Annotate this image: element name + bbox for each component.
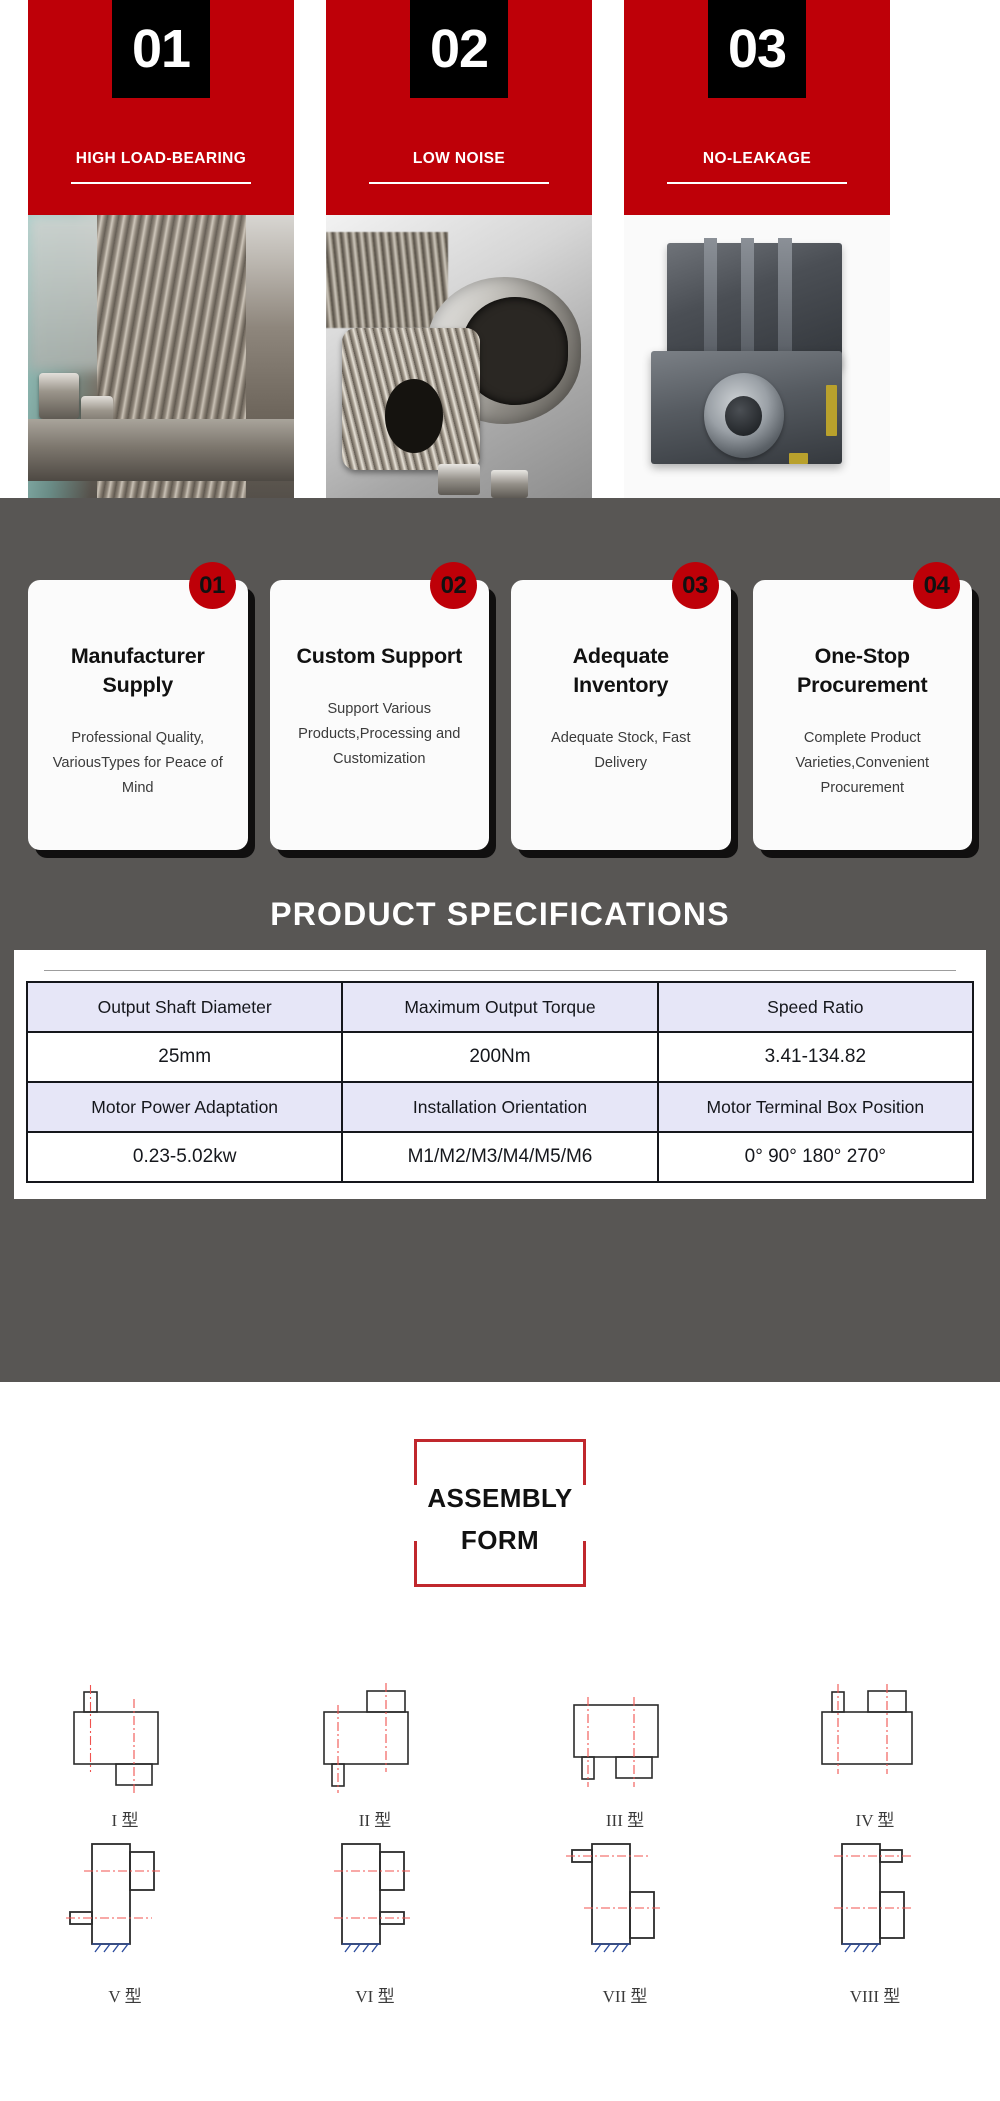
assembly-form-title-line1: ASSEMBLY (414, 1477, 586, 1519)
assembly-form-title-line2: FORM (414, 1519, 586, 1561)
diagram-label: I 型 (0, 1806, 250, 1831)
table-row: Motor Power Adaptation Installation Orie… (27, 1082, 973, 1132)
hero-divider (71, 182, 251, 184)
assembly-type-iv-icon (810, 1675, 940, 1795)
assembly-diagram-8: VIII 型 (750, 1831, 1000, 2007)
assembly-diagram-3: III 型 (500, 1670, 750, 1831)
advantage-card-1[interactable]: 01 Manufacturer Supply Professional Qual… (28, 580, 248, 850)
assembly-type-vii-icon (560, 1836, 690, 1971)
card-description: Adequate Stock, Fast Delivery (527, 700, 715, 776)
table-row: Output Shaft Diameter Maximum Output Tor… (27, 982, 973, 1032)
hero-panel-3: 03 NO-LEAKAGE (624, 0, 890, 498)
table-value-cell: 200Nm (342, 1032, 657, 1082)
table-value-cell: 3.41-134.82 (658, 1032, 973, 1082)
diagram-label: V 型 (0, 1982, 250, 2007)
assembly-form-section: ASSEMBLY FORM (0, 1382, 1000, 2101)
assembly-type-viii-icon (810, 1836, 940, 1971)
gearbox-assembly-photo (624, 215, 890, 498)
product-detail-page: 01 HIGH LOAD-BEARING (0, 0, 1000, 2101)
hero-title: HIGH LOAD-BEARING (76, 150, 246, 168)
assembly-form-title: ASSEMBLY FORM (414, 1477, 586, 1561)
assembly-type-i-icon (60, 1675, 190, 1795)
hero-title: LOW NOISE (413, 150, 505, 168)
diagram-label: III 型 (500, 1806, 750, 1831)
table-header-cell: Speed Ratio (658, 982, 973, 1032)
hero-title: NO-LEAKAGE (703, 150, 811, 168)
card-number-badge: 02 (430, 562, 477, 609)
hero-caption-1: 01 HIGH LOAD-BEARING (28, 0, 294, 215)
diagram-label: VIII 型 (750, 1982, 1000, 2007)
advantage-card-2[interactable]: 02 Custom Support Support Various Produc… (270, 580, 490, 850)
diagram-label: II 型 (250, 1806, 500, 1831)
specifications-table: Output Shaft Diameter Maximum Output Tor… (26, 981, 974, 1183)
diagram-label: VI 型 (250, 1982, 500, 2007)
hero-features-section: 01 HIGH LOAD-BEARING (0, 0, 1000, 498)
assembly-diagram-7: VII 型 (500, 1831, 750, 2007)
table-value-cell: M1/M2/M3/M4/M5/M6 (342, 1132, 657, 1182)
diagram-label: VII 型 (500, 1982, 750, 2007)
assembly-type-v-icon (60, 1836, 190, 1971)
table-header-cell: Installation Orientation (342, 1082, 657, 1132)
hero-divider (369, 182, 549, 184)
table-value-cell: 0° 90° 180° 270° (658, 1132, 973, 1182)
assembly-diagrams: I 型 (0, 1670, 1000, 2007)
hero-caption-3: 03 NO-LEAKAGE (624, 0, 890, 215)
table-row: 0.23-5.02kw M1/M2/M3/M4/M5/M6 0° 90° 180… (27, 1132, 973, 1182)
hero-caption-2: 02 LOW NOISE (326, 0, 592, 215)
hero-number-badge: 02 (410, 0, 508, 98)
assembly-type-iii-icon (560, 1675, 690, 1795)
table-value-cell: 25mm (27, 1032, 342, 1082)
diagram-label: IV 型 (750, 1806, 1000, 1831)
card-number-badge: 04 (913, 562, 960, 609)
assembly-type-vi-icon (310, 1836, 440, 1971)
card-description: Complete Product Varieties,Convenient Pr… (769, 700, 957, 801)
assembly-diagram-5: V 型 (0, 1831, 250, 2007)
assembly-diagram-4: IV 型 (750, 1670, 1000, 1831)
hero-number-badge: 01 (112, 0, 210, 98)
hero-divider (667, 182, 847, 184)
gear-and-bearing-ring-photo (326, 215, 592, 498)
assembly-diagram-1: I 型 (0, 1670, 250, 1831)
helical-gear-stack-photo (28, 215, 294, 498)
assembly-diagram-2: II 型 (250, 1670, 500, 1831)
card-description: Professional Quality, VariousTypes for P… (44, 700, 232, 801)
advantages-and-specs-section: 01 Manufacturer Supply Professional Qual… (0, 498, 1000, 1382)
table-header-cell: Motor Terminal Box Position (658, 1082, 973, 1132)
assembly-type-ii-icon (310, 1675, 440, 1795)
assembly-diagram-6: VI 型 (250, 1831, 500, 2007)
advantage-card-4[interactable]: 04 One-Stop Procurement Complete Product… (753, 580, 973, 850)
specifications-heading: PRODUCT SPECIFICATIONS (0, 896, 1000, 933)
table-header-cell: Output Shaft Diameter (27, 982, 342, 1032)
table-header-cell: Motor Power Adaptation (27, 1082, 342, 1132)
hero-panel-1: 01 HIGH LOAD-BEARING (28, 0, 294, 498)
hero-panel-2: 02 LOW NOISE (326, 0, 592, 498)
specifications-table-container: Output Shaft Diameter Maximum Output Tor… (14, 950, 986, 1199)
card-number-badge: 03 (672, 562, 719, 609)
card-description: Support Various Products,Processing and … (286, 671, 474, 772)
table-value-cell: 0.23-5.02kw (27, 1132, 342, 1182)
card-number-badge: 01 (189, 562, 236, 609)
table-row: 25mm 200Nm 3.41-134.82 (27, 1032, 973, 1082)
advantage-cards: 01 Manufacturer Supply Professional Qual… (28, 580, 972, 850)
table-header-cell: Maximum Output Torque (342, 982, 657, 1032)
assembly-form-heading: ASSEMBLY FORM (414, 1439, 586, 1587)
table-hairline (44, 970, 956, 971)
advantage-card-3[interactable]: 03 Adequate Inventory Adequate Stock, Fa… (511, 580, 731, 850)
hero-number-badge: 03 (708, 0, 806, 98)
